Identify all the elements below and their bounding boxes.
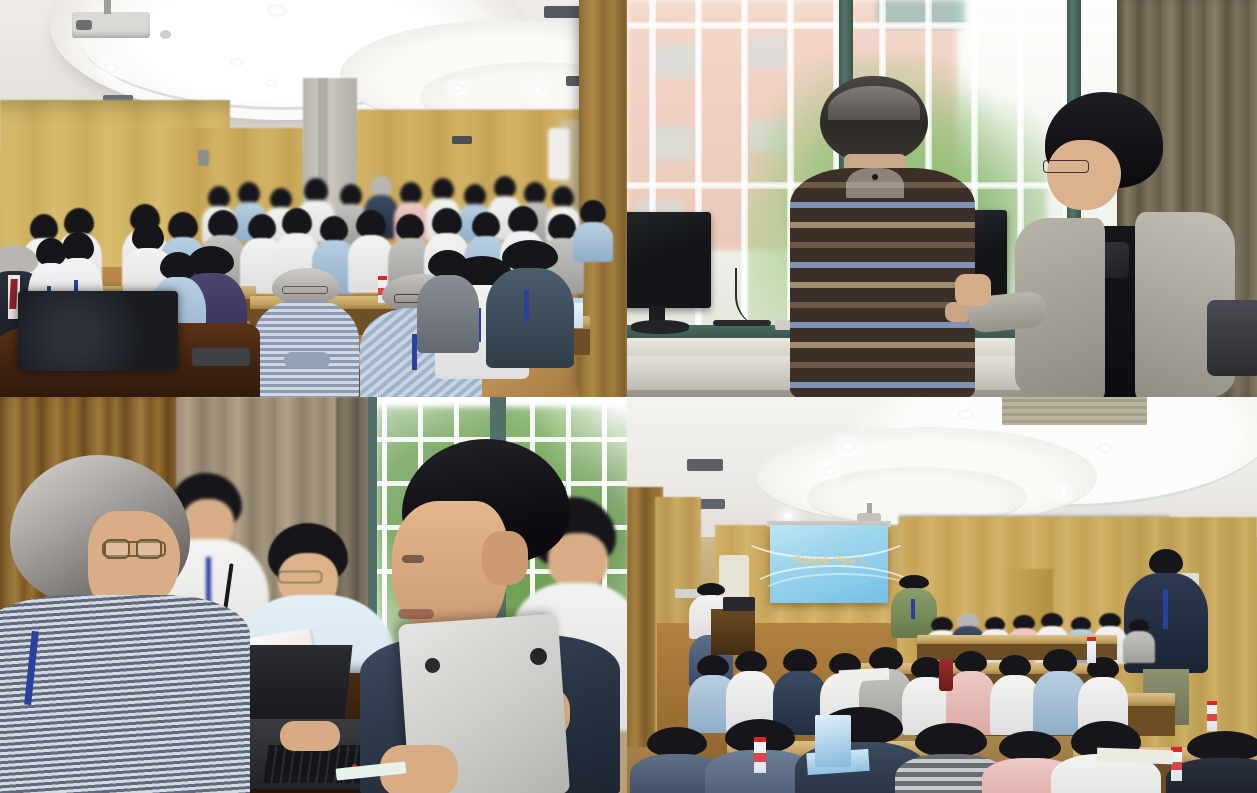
- photo-bottom-left: [0, 397, 627, 793]
- projector-mount: [104, 0, 111, 14]
- slide-thank-you-text: Thank You !: [770, 555, 888, 567]
- slide-swoosh-top: [738, 505, 914, 559]
- cable-bundle: [713, 320, 771, 326]
- water-bottle: [754, 737, 766, 773]
- papers-on-desk: [1097, 748, 1173, 765]
- air-conditioning-vent: [1002, 397, 1147, 425]
- ceiling-light-strip: [687, 459, 723, 471]
- photo-bottom-right: Thank You !: [627, 397, 1257, 793]
- photo-top-right: [627, 0, 1257, 397]
- projector-lens-icon: [76, 20, 92, 30]
- water-bottle: [1087, 637, 1096, 663]
- attendee-man-teal-polo-right: [502, 240, 558, 366]
- monitor-left: [627, 212, 711, 308]
- photo-collage: Thank You !: [0, 0, 1257, 793]
- audience-foreground-row: [647, 697, 1257, 793]
- man-striped-polo-back: [790, 76, 975, 397]
- podium-device: [192, 348, 250, 366]
- attendee-man-dark-polo-back: [428, 250, 468, 350]
- ceiling-downlight: [532, 86, 543, 93]
- ceiling-downlight: [839, 441, 857, 452]
- projector-rear: [452, 136, 472, 144]
- ceiling-downlight: [1097, 443, 1113, 453]
- hand-on-laptop: [280, 721, 340, 751]
- tablet-camera-icon: [530, 648, 547, 665]
- ceiling-downlight: [230, 58, 244, 67]
- man-grey-shirt-glasses: [1025, 92, 1235, 397]
- senior-man-striped-shirt: [0, 455, 250, 793]
- photo-top-left: [0, 0, 627, 397]
- podium-monitor: [18, 291, 178, 371]
- smoke-detector-icon: [160, 30, 171, 39]
- ceiling-downlight: [265, 79, 277, 87]
- ceiling-downlight: [452, 84, 464, 92]
- ceiling-downlight: [1057, 489, 1070, 497]
- window-bar-horizontal: [627, 22, 1187, 29]
- tumbler: [939, 659, 953, 691]
- water-bottle: [1207, 701, 1217, 731]
- ceiling-light-strip: [544, 6, 584, 18]
- monitor-base: [631, 320, 689, 334]
- ceiling-downlight: [823, 467, 837, 476]
- ceiling-downlight: [103, 63, 119, 73]
- bag-right: [1207, 300, 1257, 376]
- lectern-laptop: [723, 597, 755, 611]
- tote-bag-on-chair: [815, 715, 851, 767]
- ceiling-downlight: [266, 4, 288, 17]
- water-bottle: [573, 298, 583, 328]
- ceiling-downlight: [957, 409, 975, 420]
- attendee-man-grey-hair-folded-arms: [272, 268, 340, 396]
- wall-speaker-icon: [198, 150, 209, 166]
- tablet-sensor-icon: [425, 658, 440, 673]
